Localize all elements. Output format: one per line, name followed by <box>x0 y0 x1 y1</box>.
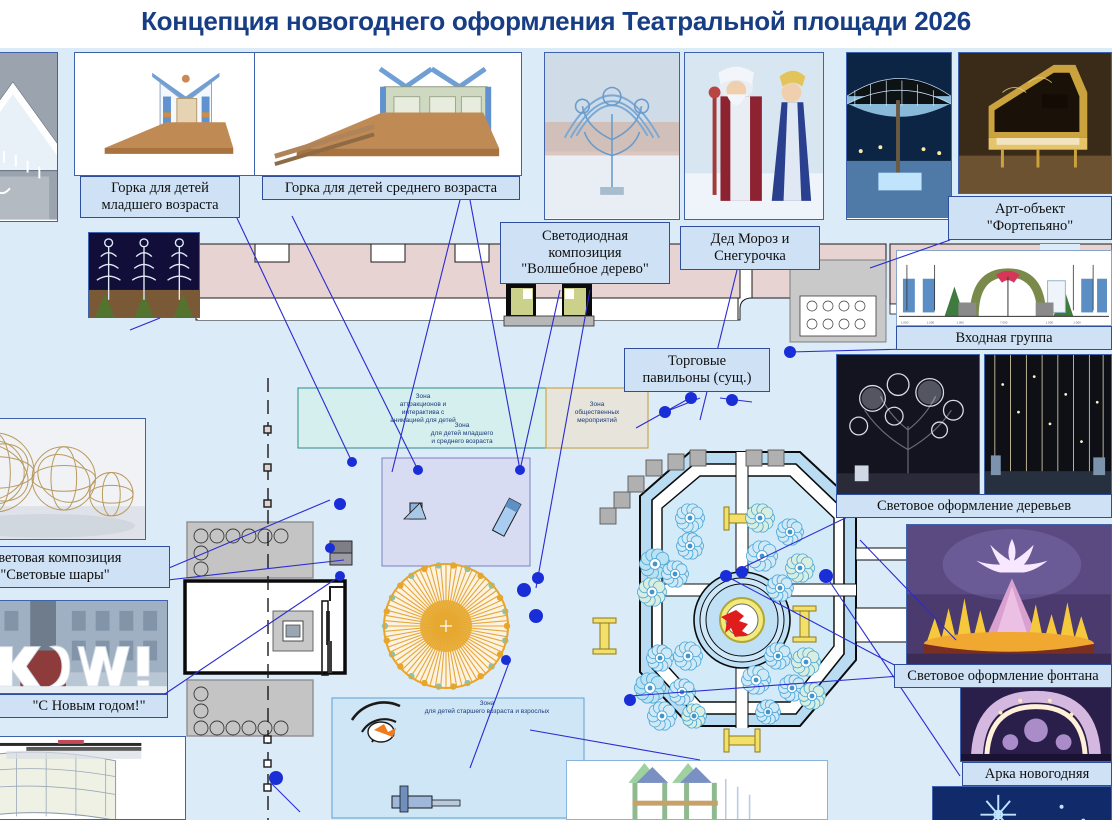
callout-fontan[interactable]: Световое оформление фонтана <box>894 664 1112 688</box>
photo-karusel-bottom[interactable] <box>0 736 186 820</box>
callout-arka[interactable]: Арка новогодняя <box>962 762 1112 786</box>
callout-vhodnaya-gruppa-text: Входная группа <box>955 330 1052 347</box>
photo-derevya-2[interactable] <box>984 354 1112 496</box>
callout-derevya[interactable]: Световое оформление деревьев <box>836 494 1112 518</box>
photo-derevya-1[interactable] <box>836 354 980 496</box>
callout-arka-text: Арка новогодняя <box>985 766 1090 783</box>
zone-public-events-rect <box>546 388 648 448</box>
photo-gorka-mladshie[interactable] <box>74 52 262 176</box>
callout-torgovye-pavilony[interactable]: Торговые павильоны (сущ.) <box>624 348 770 392</box>
photo-arka[interactable] <box>960 676 1112 762</box>
photo-volshebnoe-derevo[interactable] <box>544 52 680 220</box>
callout-vhodnaya-gruppa[interactable]: Входная группа <box>896 326 1112 350</box>
callout-ded-moroz[interactable]: Дед Мороз и Снегурочка <box>680 226 820 270</box>
callout-gorka-srednie-text: Горка для детей среднего возраста <box>285 180 497 197</box>
svg-text:1.000: 1.000 <box>1046 320 1054 324</box>
photo-street-lights[interactable] <box>88 232 200 318</box>
photo-fortepiano[interactable] <box>958 52 1112 194</box>
svg-text:1.000: 1.000 <box>1073 320 1081 324</box>
callout-fortepiano[interactable]: Арт-объект "Фортепьяно" <box>948 196 1112 240</box>
svg-text:1.000: 1.000 <box>901 320 909 324</box>
photo-igrovoy-kompleks[interactable] <box>566 760 828 820</box>
svg-text:7.000: 7.000 <box>1000 320 1008 324</box>
presentation-slide: Концепция новогоднего оформления Театрал… <box>0 0 1112 820</box>
callout-ded-moroz-text: Дед Мороз и Снегурочка <box>711 231 790 265</box>
photo-snow-pavilion-left[interactable] <box>0 52 58 222</box>
photo-gorka-srednie[interactable] <box>254 52 522 176</box>
callout-gorka-mladshie[interactable]: Горка для детей младшего возраста <box>80 176 240 218</box>
photo-fontan[interactable] <box>906 524 1112 666</box>
photo-vhodnaya-gruppa-diagram[interactable]: 1.0001.000 1.0007.000 1.0001.000 <box>896 250 1112 326</box>
photo-ded-moroz[interactable] <box>684 52 824 220</box>
photo-svetovye-shary[interactable] <box>0 418 146 540</box>
callout-volshebnoe-derevo-text: Светодиодная композиция "Волшебное дерев… <box>521 228 649 278</box>
callout-gorka-srednie[interactable]: Горка для детей среднего возраста <box>262 176 520 200</box>
callout-gorka-mladshie-text: Горка для детей младшего возраста <box>101 180 218 214</box>
callout-fontan-text: Световое оформление фонтана <box>907 668 1098 685</box>
callout-fortepiano-text: Арт-объект "Фортепьяно" <box>987 201 1073 235</box>
photo-svetovoy-shater[interactable] <box>846 52 952 220</box>
page-title: Концепция новогоднего оформления Театрал… <box>0 6 1112 37</box>
zone-attractions-rect <box>298 388 546 448</box>
callout-svetovye-shary[interactable]: Световая композиция "Световые шары" <box>0 546 170 588</box>
svg-text:1.000: 1.000 <box>956 320 964 324</box>
callout-svetovye-shary-text: Световая композиция "Световые шары" <box>0 550 121 584</box>
callout-s-novym-godom-text: "С Новым годом!" <box>0 698 146 715</box>
photo-s-novym-godom[interactable] <box>0 600 168 694</box>
svg-text:1.000: 1.000 <box>927 320 935 324</box>
callout-volshebnoe-derevo[interactable]: Светодиодная композиция "Волшебное дерев… <box>500 222 670 284</box>
photo-snowflake-blue[interactable] <box>932 786 1112 820</box>
plaza-steps-northeast <box>790 260 886 342</box>
callout-torgovye-pavilony-text: Торговые павильоны (сущ.) <box>643 353 752 387</box>
callout-s-novym-godom[interactable]: "С Новым годом!" <box>0 694 168 718</box>
callout-derevya-text: Световое оформление деревьев <box>877 498 1071 515</box>
